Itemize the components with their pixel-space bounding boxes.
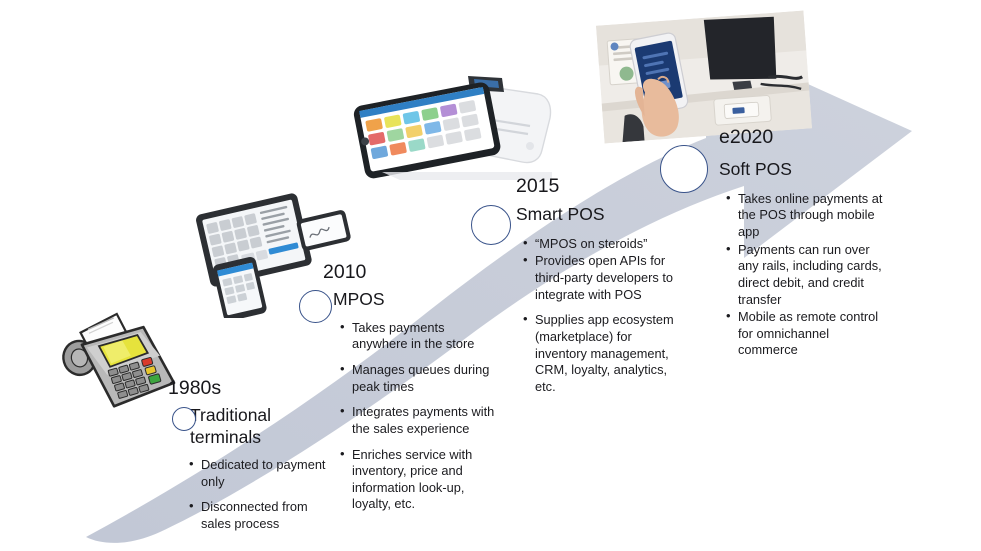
milestone-marker-circle <box>299 290 332 323</box>
milestone-e2020: e2020 Soft POS Takes online payments at … <box>719 127 887 360</box>
milestone-bullet-list: Takes online payments at the POS through… <box>725 191 885 359</box>
milestone-marker-circle <box>172 407 196 431</box>
milestone-1980s: 1980s Traditional terminals Dedicated to… <box>168 378 328 534</box>
list-item: Integrates payments with the sales exper… <box>339 404 497 437</box>
milestone-stage-name: Smart POS <box>516 204 684 225</box>
milestone-marker-circle <box>660 145 708 193</box>
list-item: Provides open APIs for third-party devel… <box>522 253 682 303</box>
list-item: “MPOS on steroids” <box>522 236 682 253</box>
milestone-stage-name: Traditional terminals <box>190 405 320 448</box>
milestone-stage-name: MPOS <box>333 289 493 310</box>
milestone-bullet-list: Dedicated to payment only Disconnected f… <box>188 457 338 533</box>
list-item: Manages queues during peak times <box>339 362 497 395</box>
card-payment-terminal-image <box>48 306 184 418</box>
list-item: Payments can run over any rails, includi… <box>725 242 885 309</box>
smart-pos-terminal-image <box>352 68 560 186</box>
milestone-year: 2015 <box>516 176 684 196</box>
milestone-year: 1980s <box>168 378 328 398</box>
milestone-2010: 2010 MPOS Takes payments anywhere in the… <box>323 262 493 514</box>
list-item: Takes payments anywhere in the store <box>339 320 497 353</box>
list-item: Dedicated to payment only <box>188 457 338 490</box>
list-item: Supplies app ecosystem (marketplace) for… <box>522 312 682 395</box>
milestone-stage-name: Soft POS <box>719 159 887 180</box>
timeline-diagram: 1980s Traditional terminals Dedicated to… <box>0 0 981 551</box>
milestone-bullet-list: “MPOS on steroids” Provides open APIs fo… <box>522 236 682 396</box>
list-item: Mobile as remote control for omnichannel… <box>725 309 885 359</box>
list-item: Enriches service with inventory, price a… <box>339 447 497 514</box>
milestone-2015: 2015 Smart POS “MPOS on steroids” Provid… <box>516 176 684 396</box>
milestone-marker-circle <box>471 205 511 245</box>
hand-holding-smartphone-photo <box>600 18 808 136</box>
milestone-bullet-list: Takes payments anywhere in the store Man… <box>339 320 497 513</box>
milestone-year: 2010 <box>323 262 493 282</box>
milestone-year: e2020 <box>719 127 887 147</box>
list-item: Disconnected from sales process <box>188 499 338 532</box>
list-item: Takes online payments at the POS through… <box>725 191 885 241</box>
